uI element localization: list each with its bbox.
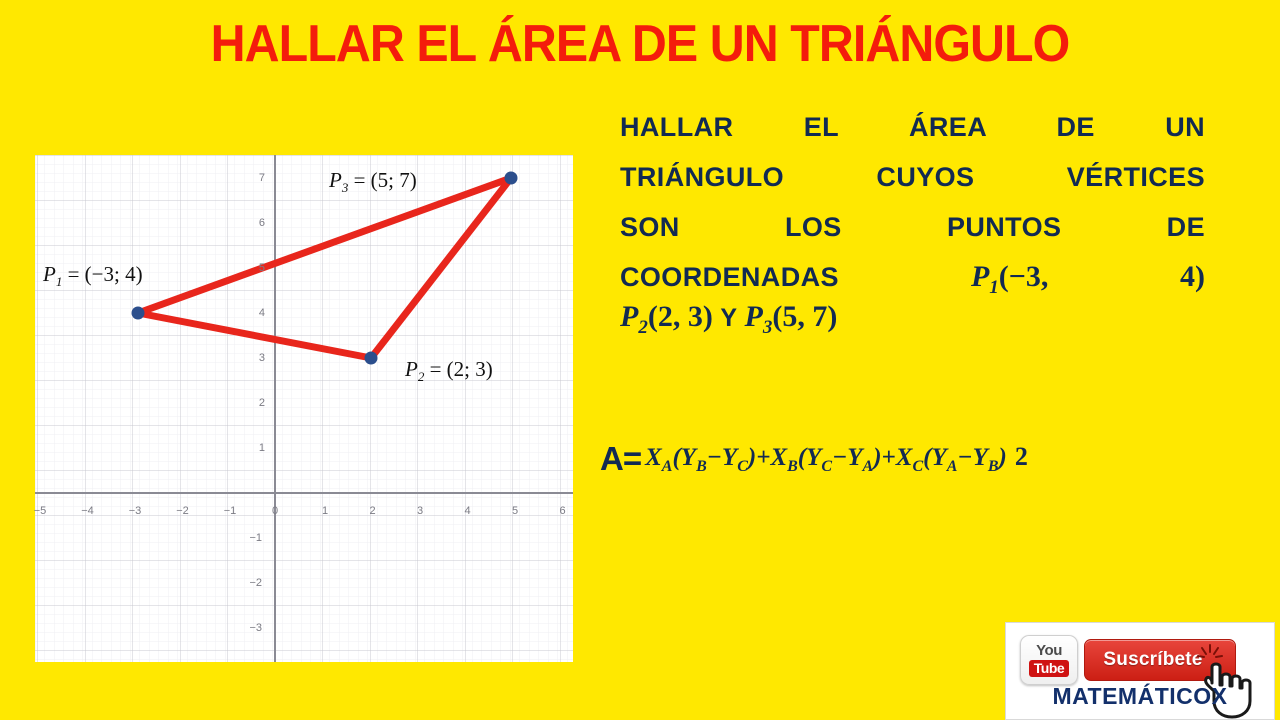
num-yc2: Y: [806, 444, 821, 471]
y-tick-5: 5: [241, 262, 265, 274]
num-ya2: Y: [847, 444, 862, 471]
statement-p3-sub: 3: [763, 317, 773, 338]
x-tick-4: 4: [456, 505, 480, 517]
y-tick--3: −3: [238, 622, 262, 634]
problem-statement: HALLAR EL ÁREA DE UN TRIÁNGULO CUYOS VÉR…: [620, 102, 1205, 313]
point-label-p3: P3 = (5; 7): [329, 168, 417, 196]
point-label-p1: P1 = (−3; 4): [43, 262, 143, 290]
formula-denominator: 2: [1015, 438, 1028, 471]
num-xb-sub: B: [787, 458, 798, 475]
youtube-subscribe-card[interactable]: You Tube Suscríbete MATEMÁTICOX: [1005, 622, 1275, 720]
x-tick-3: 3: [408, 505, 432, 517]
num-xc-sub: C: [912, 458, 923, 475]
channel-brand-label: MATEMÁTICOX: [1006, 683, 1274, 710]
p1-letter: P: [43, 262, 56, 286]
statement-line-3: SON LOS PUNTOS DE: [620, 202, 1205, 252]
page-title: HALLAR EL ÁREA DE UN TRIÁNGULO: [45, 14, 1235, 74]
statement-p2-coords: (2, 3): [648, 300, 713, 333]
p2-coords: = (2; 3): [430, 357, 493, 381]
num-yb: Y: [681, 444, 696, 471]
num-xc: X: [896, 444, 913, 471]
p1-coords: = (−3; 4): [68, 262, 143, 286]
youtube-logo-tube: Tube: [1029, 660, 1069, 677]
num-ya3: Y: [931, 444, 946, 471]
y-tick--1: −1: [238, 532, 262, 544]
formula-lhs: A=: [600, 440, 641, 478]
formula-fraction: XA(YB−YC)+XB(YC−YA)+XC(YA−YB) 2: [641, 442, 1028, 476]
y-tick-3: 3: [241, 352, 265, 364]
p3-coords: = (5; 7): [354, 168, 417, 192]
y-tick-6: 6: [241, 217, 265, 229]
p3-letter: P: [329, 168, 342, 192]
x-tick--5: −5: [28, 505, 52, 517]
x-tick-6: 6: [551, 505, 575, 517]
statement-p3-coords: (5, 7): [772, 300, 837, 333]
x-tick-5: 5: [503, 505, 527, 517]
statement-p1-sub: 1: [989, 277, 999, 298]
x-tick--2: −2: [171, 505, 195, 517]
statement-line-2: TRIÁNGULO CUYOS VÉRTICES: [620, 152, 1205, 202]
youtube-logo-icon: You Tube: [1020, 635, 1078, 685]
p3-subscript: 3: [342, 180, 349, 195]
num-open2: (: [798, 444, 806, 471]
num-close3: ): [999, 444, 1007, 471]
statement-coords-line-2: P2(2, 3) Y P3(5, 7): [620, 300, 1220, 339]
subscribe-button-label: Suscríbete: [1103, 649, 1202, 671]
num-ya2-sub: A: [863, 458, 874, 475]
num-yb3: Y: [973, 444, 988, 471]
statement-p1-coords: (−3, 4): [999, 260, 1205, 293]
statement-line-1: HALLAR EL ÁREA DE UN: [620, 102, 1205, 152]
x-tick--1: −1: [218, 505, 242, 517]
p2-subscript: 2: [418, 369, 425, 384]
statement-p3-letter: P: [745, 300, 763, 333]
x-tick--3: −3: [123, 505, 147, 517]
num-xa-sub: A: [662, 458, 673, 475]
y-tick--2: −2: [238, 577, 262, 589]
statement-p2-letter: P: [620, 300, 638, 333]
num-yc: Y: [722, 444, 737, 471]
p2-letter: P: [405, 357, 418, 381]
num-plus1: +: [756, 444, 770, 471]
click-spark-icon: [1197, 643, 1223, 663]
num-xa: X: [645, 444, 662, 471]
num-yc-sub: C: [737, 458, 748, 475]
statement-p1-letter: P: [971, 260, 989, 293]
x-tick-1: 1: [313, 505, 337, 517]
num-minus2: −: [832, 444, 847, 471]
num-close1: ): [748, 444, 756, 471]
num-xb: X: [770, 444, 787, 471]
statement-conjunction: Y: [720, 304, 737, 332]
num-ya3-sub: A: [947, 458, 958, 475]
statement-coordenadas-word: COORDENADAS: [620, 262, 839, 292]
x-tick-0: 0: [263, 505, 287, 517]
num-yb3-sub: B: [988, 458, 999, 475]
num-open1: (: [672, 444, 680, 471]
vertex-p3: [505, 172, 518, 185]
y-tick-2: 2: [241, 397, 265, 409]
y-tick-1: 1: [241, 442, 265, 454]
slide-canvas: HALLAR EL ÁREA DE UN TRIÁNGULO: [0, 0, 1280, 720]
num-close2: ): [873, 444, 881, 471]
plot-svg: [35, 155, 573, 662]
p1-subscript: 1: [56, 274, 63, 289]
statement-p1: P1(−3, 4): [971, 260, 1205, 293]
formula-numerator: XA(YB−YC)+XB(YC−YA)+XC(YA−YB): [641, 444, 1011, 473]
num-yb-sub: B: [696, 458, 707, 475]
area-formula: A= XA(YB−YC)+XB(YC−YA)+XC(YA−YB) 2: [600, 440, 1028, 478]
y-tick-4: 4: [241, 307, 265, 319]
x-tick--4: −4: [76, 505, 100, 517]
youtube-logo-you: You: [1036, 643, 1062, 658]
num-plus2: +: [882, 444, 896, 471]
num-minus3: −: [957, 444, 972, 471]
statement-p2-sub: 2: [638, 317, 648, 338]
vertex-p1: [132, 307, 145, 320]
point-label-p2: P2 = (2; 3): [405, 357, 493, 385]
num-minus1: −: [707, 444, 722, 471]
coordinate-plane: −5 −4 −3 −2 −1 0 1 2 3 4 5 6 7 6 5 4 3 2…: [35, 155, 573, 662]
vertex-p2: [365, 352, 378, 365]
x-tick-2: 2: [361, 505, 385, 517]
num-yc2-sub: C: [821, 458, 832, 475]
y-tick-7: 7: [241, 172, 265, 184]
